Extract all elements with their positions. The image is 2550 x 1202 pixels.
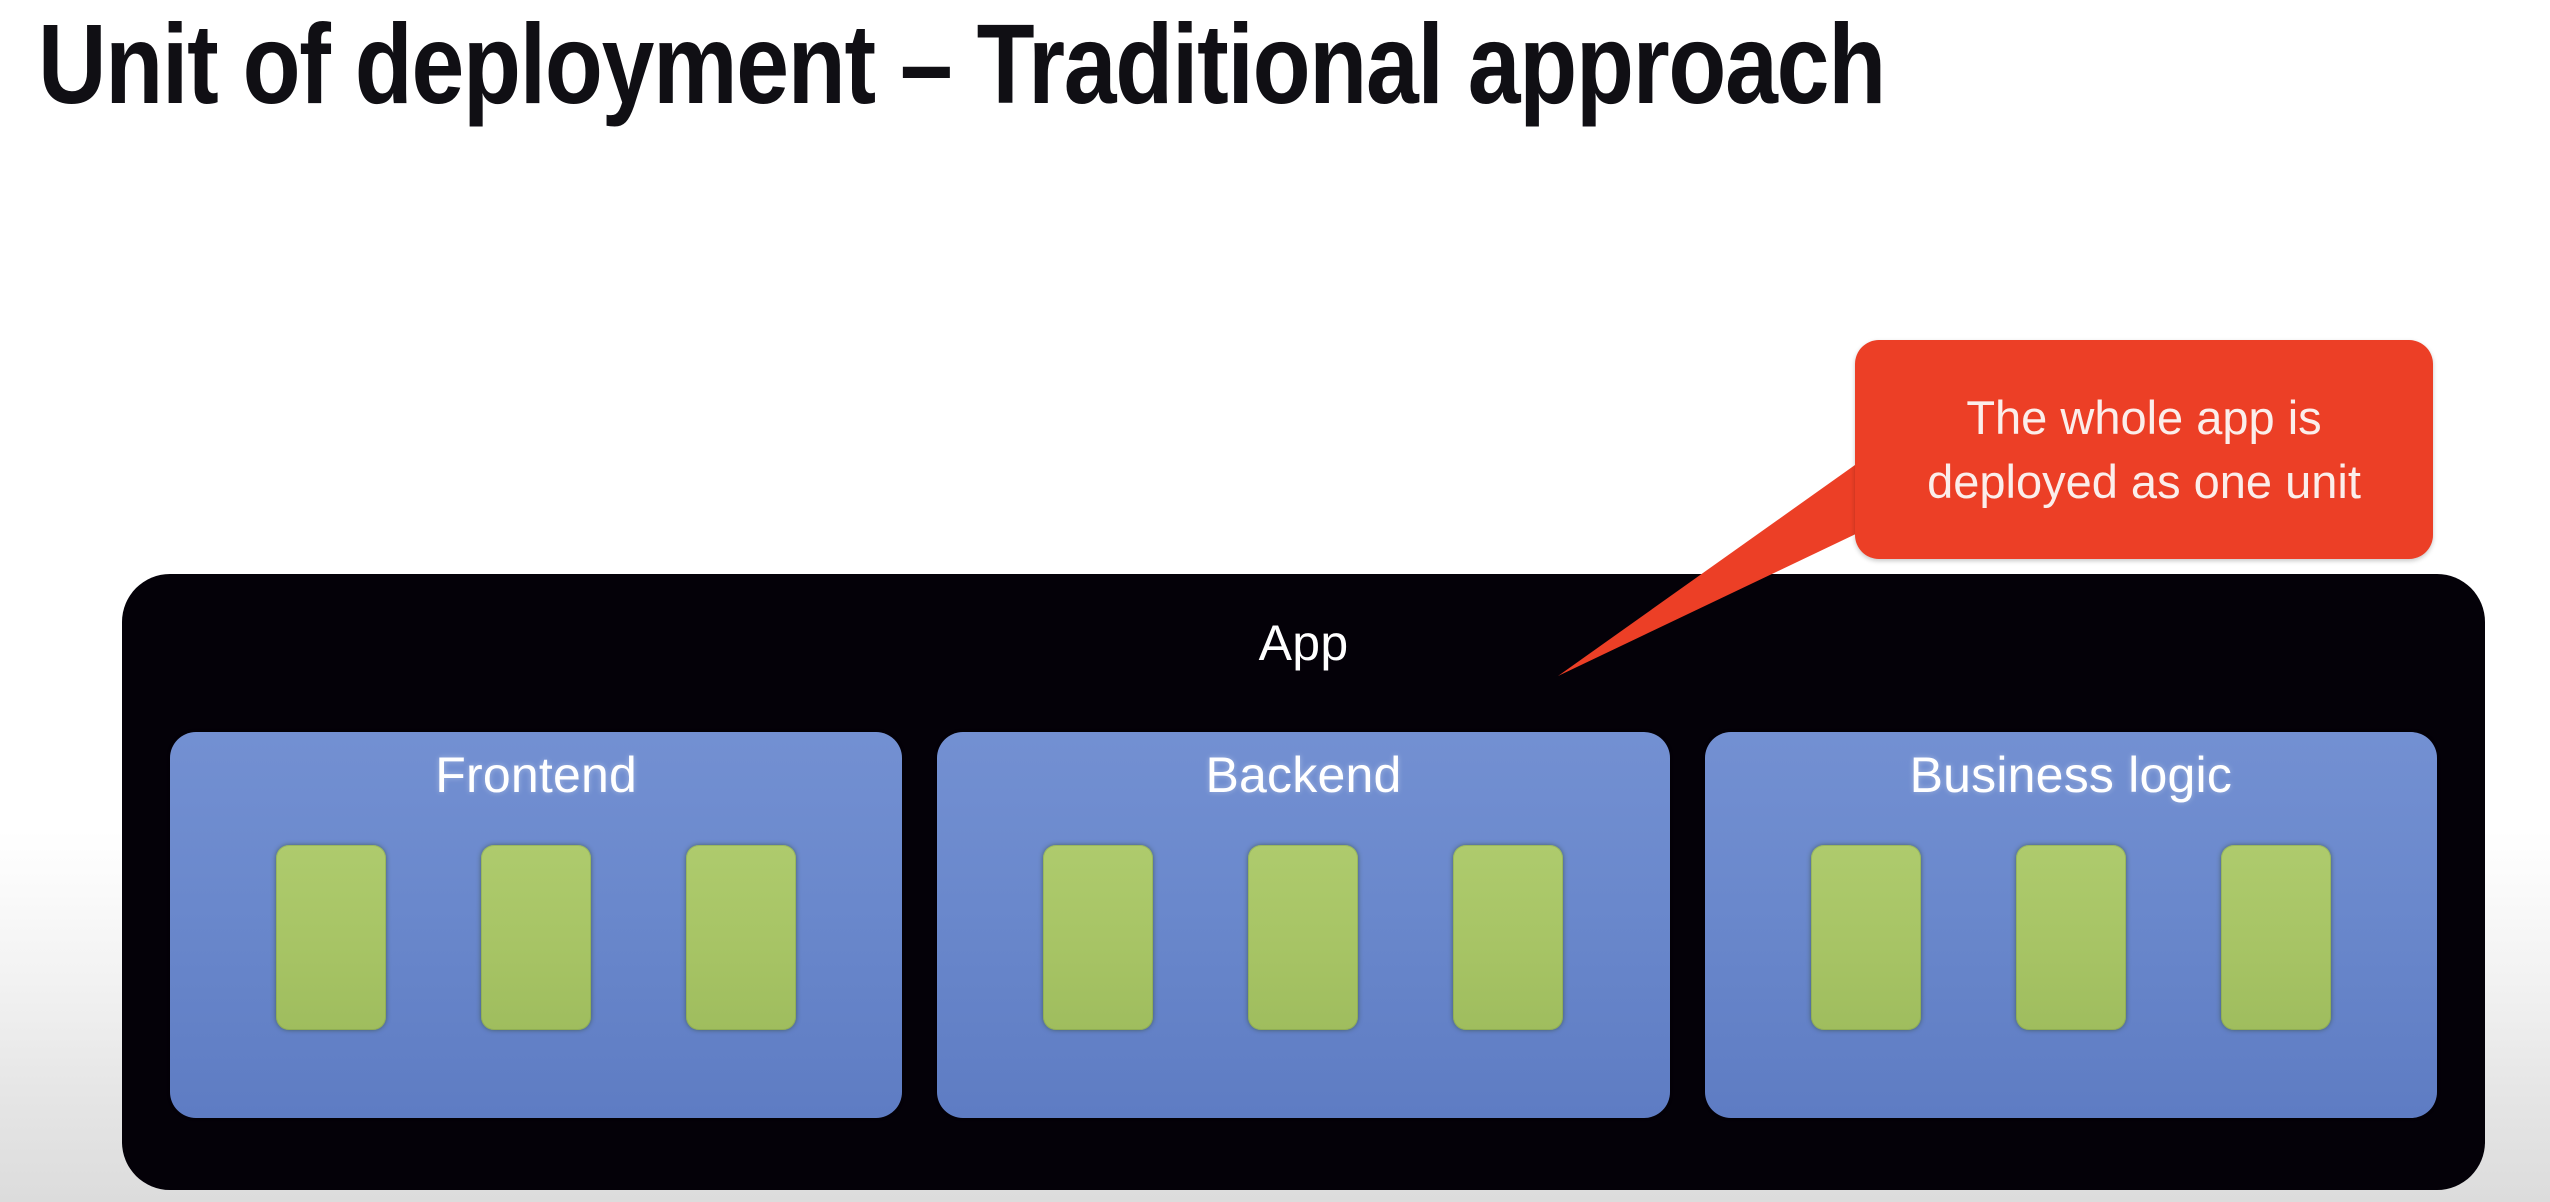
panel-frontend[interactable]: Frontend bbox=[170, 732, 902, 1118]
panel-label: Business logic bbox=[1705, 750, 2437, 800]
component-cell[interactable] bbox=[2221, 845, 2331, 1030]
component-cell[interactable] bbox=[1453, 845, 1563, 1030]
app-container: App Frontend Backend Business logic bbox=[122, 574, 2485, 1190]
component-cell[interactable] bbox=[686, 845, 796, 1030]
panel-label: Backend bbox=[937, 750, 1669, 800]
page-title: Unit of deployment – Traditional approac… bbox=[38, 0, 1970, 144]
component-cell[interactable] bbox=[481, 845, 591, 1030]
panel-backend[interactable]: Backend bbox=[937, 732, 1669, 1118]
callout-text: The whole app is deployed as one unit bbox=[1855, 386, 2433, 514]
component-cell[interactable] bbox=[2016, 845, 2126, 1030]
app-container-label: App bbox=[122, 618, 2485, 668]
component-cell[interactable] bbox=[1248, 845, 1358, 1030]
cell-row bbox=[170, 845, 902, 1038]
cell-row bbox=[937, 845, 1669, 1038]
component-cell[interactable] bbox=[276, 845, 386, 1030]
panel-row: Frontend Backend Business logic bbox=[170, 732, 2437, 1118]
component-cell[interactable] bbox=[1043, 845, 1153, 1030]
panel-label: Frontend bbox=[170, 750, 902, 800]
panel-business-logic[interactable]: Business logic bbox=[1705, 732, 2437, 1118]
callout-bubble: The whole app is deployed as one unit bbox=[1855, 340, 2433, 559]
component-cell[interactable] bbox=[1811, 845, 1921, 1030]
cell-row bbox=[1705, 845, 2437, 1038]
